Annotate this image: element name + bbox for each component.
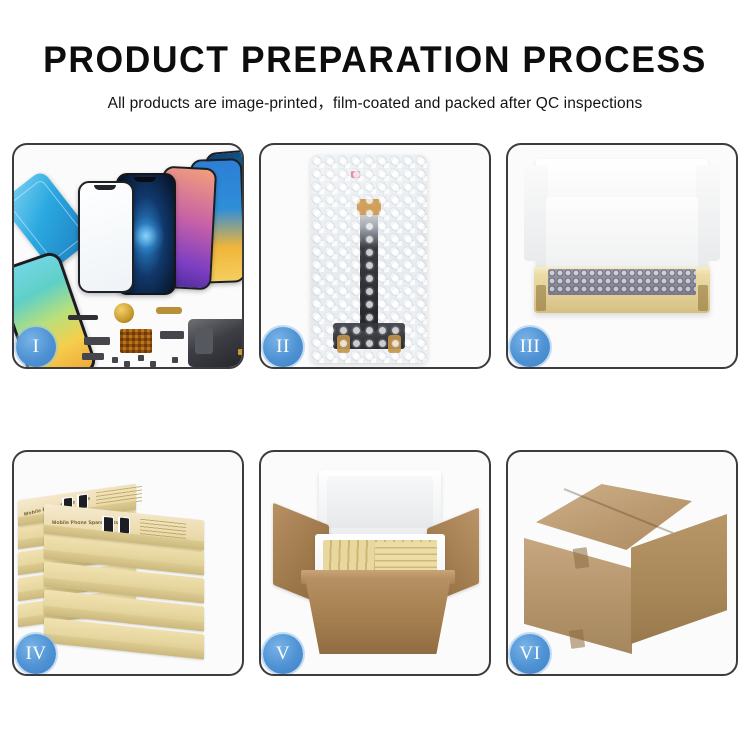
step-badge-4: IV bbox=[16, 634, 56, 674]
carton-body-icon bbox=[305, 578, 451, 654]
carton-tape-tab-bottom-icon bbox=[569, 629, 585, 649]
step-panel-2: II bbox=[259, 143, 491, 369]
page-root: PRODUCT PREPARATION PROCESS All products… bbox=[0, 0, 750, 750]
part-gold-cable-icon bbox=[156, 307, 182, 314]
part-screw-c-icon bbox=[138, 355, 144, 361]
phone-white-glass-icon bbox=[78, 181, 134, 293]
page-title: PRODUCT PREPARATION PROCESS bbox=[15, 0, 735, 84]
bubble-wrap-bag-icon bbox=[311, 155, 427, 363]
part-screw-f-icon bbox=[238, 349, 242, 355]
step-panel-3: III bbox=[506, 143, 738, 369]
step-badge-6: VI bbox=[510, 634, 550, 674]
spare-parts-cluster bbox=[68, 297, 242, 367]
white-foam-sheet-icon bbox=[546, 197, 698, 275]
foam-cooler-lid-icon bbox=[319, 470, 441, 534]
box-flap-right-icon bbox=[698, 285, 708, 311]
step-badge-2: II bbox=[263, 327, 303, 367]
part-connector-a-icon bbox=[84, 337, 110, 345]
part-screw-e-icon bbox=[172, 357, 178, 363]
part-connector-b-icon bbox=[82, 353, 104, 360]
part-screw-d-icon bbox=[150, 361, 156, 367]
part-gold-coil-icon bbox=[114, 303, 134, 323]
carton-tape-tab-top-icon bbox=[573, 547, 590, 569]
step-panel-1: I bbox=[12, 143, 244, 369]
part-flex-strip-icon bbox=[68, 315, 98, 320]
part-connector-c-icon bbox=[160, 331, 184, 339]
step-panel-4: Mobile Phone Spare Parts bbox=[12, 450, 244, 676]
step-panel-5: V bbox=[259, 450, 491, 676]
step-panel-6: VI bbox=[506, 450, 738, 676]
page-header: PRODUCT PREPARATION PROCESS All products… bbox=[0, 0, 750, 114]
part-phone-chassis-icon bbox=[188, 319, 242, 367]
bubble-texture-overlay bbox=[311, 155, 427, 363]
step-badge-1: I bbox=[16, 327, 56, 367]
page-subtitle: All products are image-printed，film-coat… bbox=[0, 84, 750, 114]
grey-bubble-wrap-icon bbox=[548, 269, 696, 295]
part-contact-grid-icon bbox=[120, 329, 152, 353]
part-screw-a-icon bbox=[112, 357, 118, 363]
process-steps-grid: I II bbox=[12, 143, 738, 726]
part-screw-b-icon bbox=[124, 361, 130, 367]
step-badge-3: III bbox=[510, 327, 550, 367]
step-badge-5: V bbox=[263, 634, 303, 674]
